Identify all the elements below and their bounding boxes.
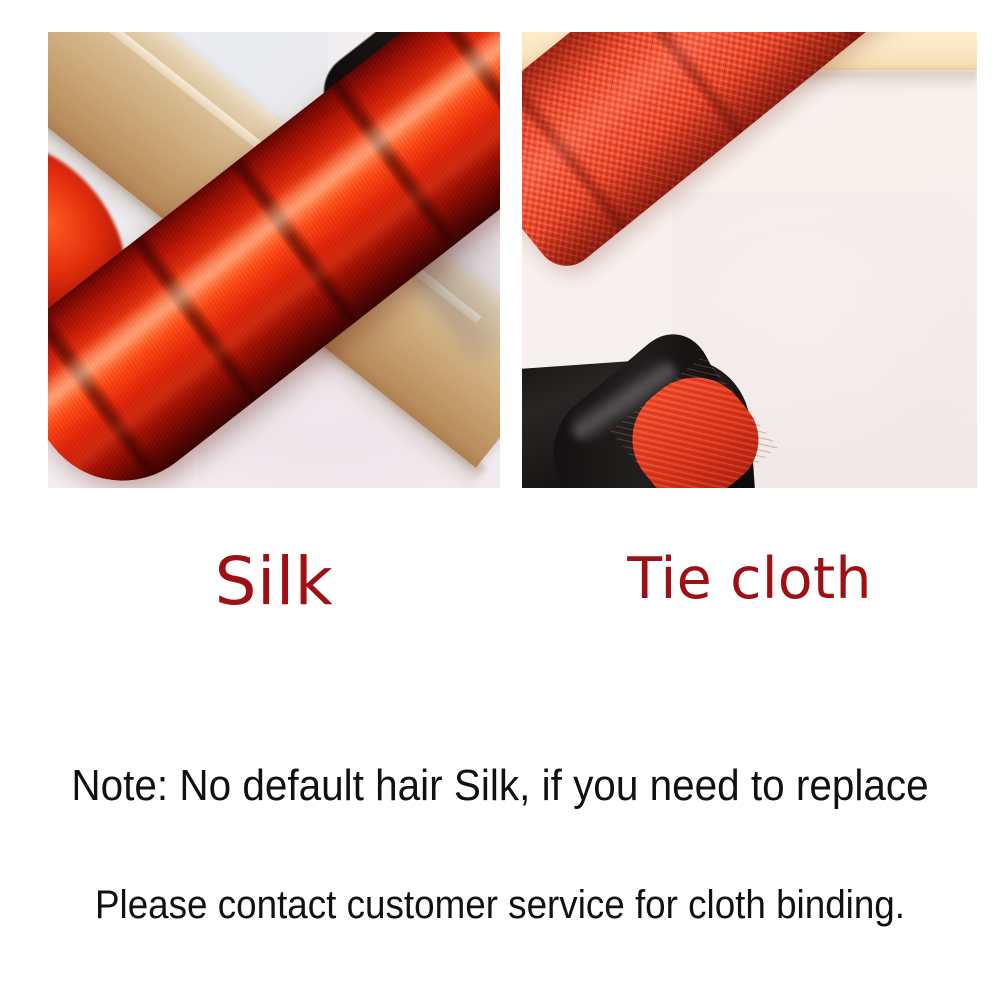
infographic-canvas: Silk Tie cloth Note: No default hair Sil…: [0, 0, 1000, 1000]
product-photo-silk[interactable]: [48, 32, 500, 488]
note-line-2: Please contact customer service for clot…: [40, 885, 960, 925]
product-photo-tie-cloth[interactable]: [522, 32, 977, 488]
note-line-1: Note: No default hair Silk, if you need …: [40, 764, 960, 808]
caption-tie-cloth: Tie cloth: [522, 551, 977, 608]
caption-silk: Silk: [48, 549, 500, 615]
